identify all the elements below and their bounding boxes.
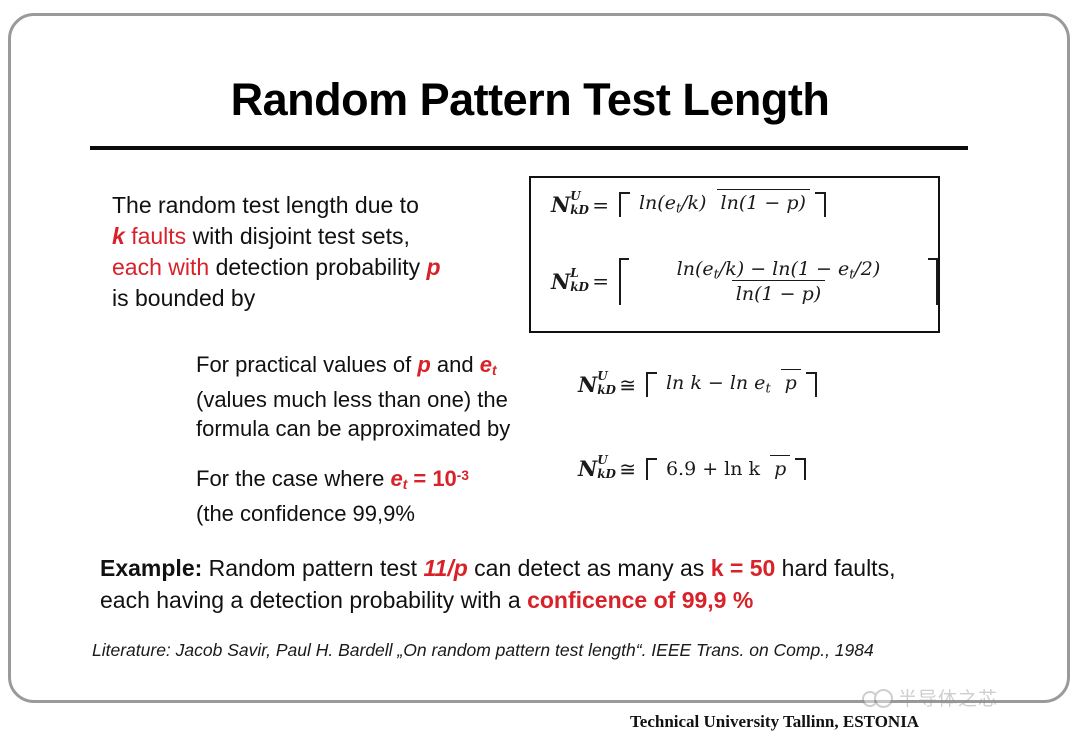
formula-approx-ceiling-brackets: ln k − ln et p <box>646 372 817 397</box>
formula-case-denominator: p <box>770 455 790 481</box>
each-with-phrase: each with <box>112 254 209 280</box>
formula-approx-fraction: ln k − ln et p <box>657 372 806 397</box>
case-line-1: For the case where et = 10-3 <box>196 461 556 499</box>
example-paragraph: Example: Random pattern test 11/p can de… <box>100 552 990 616</box>
formula-upper-numerator: ln(et/k) <box>635 191 711 216</box>
example-highlight-confidence: conficence of 99,9 % <box>527 587 753 613</box>
formula-upper-fraction: ln(et/k) ln(1 − p) <box>630 192 815 217</box>
intro-line-2: k faults with disjoint test sets, <box>112 221 512 252</box>
example-text-a: Random pattern test <box>209 555 417 581</box>
approximation-paragraph: For practical values of p and et (values… <box>196 350 556 443</box>
example-line-1: Example: Random pattern test 11/p can de… <box>100 552 990 584</box>
ceiling-bracket-left <box>619 192 630 217</box>
formula-approx-numerator: ln k − ln et <box>662 371 775 396</box>
formula-approx-subscript: kD <box>597 383 616 397</box>
formula-upper-denominator: ln(1 − p) <box>717 189 810 215</box>
p-symbol: p <box>427 254 441 280</box>
intro-line-3-rest: detection probability <box>216 254 421 280</box>
case-line-2: (the confidence 99,9% <box>196 499 556 528</box>
formula-lower-bound: NLkD = ln(et/k) − ln(1 − et/2) ln(1 − p) <box>551 258 938 305</box>
approximation-line-2: (values much less than one) the <box>196 385 556 414</box>
intro-line-2-rest: with disjoint test sets, <box>193 223 410 249</box>
formula-upper-superscript: U <box>570 189 580 203</box>
footer-institution: Technical University Tallinn, ESTONIA <box>630 712 919 732</box>
intro-line-4-text: is bounded by <box>112 285 255 311</box>
ceiling-bracket-left <box>619 258 629 305</box>
formula-case-ceiling-brackets: 6.9 + ln k p <box>646 458 806 480</box>
formula-approx-denominator: p <box>781 369 801 395</box>
formula-lower-lhs: NLkD <box>551 269 570 294</box>
formula-case-subscript: kD <box>597 467 616 481</box>
formula-lower-numerator: ln(et/k) − ln(1 − et/2) <box>673 257 885 282</box>
example-highlight-k-equals-50: k = 50 <box>711 555 776 581</box>
example-label: Example: <box>100 555 202 581</box>
p-symbol: p <box>417 352 430 377</box>
approximation-lead: For practical values of <box>196 352 411 377</box>
approximation-line-3: formula can be approximated by <box>196 414 556 443</box>
ceiling-bracket-right <box>795 458 806 480</box>
formula-approx-superscript: U <box>597 369 607 383</box>
ceiling-bracket-right <box>806 372 817 397</box>
page-title: Random Pattern Test Length <box>90 74 970 126</box>
et-symbol: et <box>480 352 497 377</box>
formula-case-fraction: 6.9 + ln k p <box>657 458 795 480</box>
watermark-dot-left <box>862 691 878 707</box>
ceiling-bracket-left <box>646 372 657 397</box>
formula-lower-superscript: L <box>570 266 578 280</box>
example-line-2: each having a detection probability with… <box>100 584 990 616</box>
formula-lower-denominator: ln(1 − p) <box>732 280 825 306</box>
formula-case-lhs: NUkD <box>578 456 597 481</box>
formula-lower-subscript: kD <box>570 280 589 294</box>
watermark-logo-icon <box>862 687 892 709</box>
formula-upper-subscript: kD <box>570 203 589 217</box>
formula-upper-ceiling-brackets: ln(et/k) ln(1 − p) <box>619 192 826 217</box>
formula-lower-fraction: ln(et/k) − ln(1 − et/2) ln(1 − p) <box>629 258 927 305</box>
approximation-line-1: For practical values of p and et <box>196 350 556 385</box>
bounds-formula-box: NUkD = ln(et/k) ln(1 − p) NLkD = ln(et/k… <box>529 176 940 333</box>
formula-upper-lhs: NUkD <box>551 192 570 217</box>
example-line-2-text: each having a detection probability with… <box>100 587 521 613</box>
watermark-text: 半导体之芯 <box>898 684 998 711</box>
et-value-expression: et = 10-3 <box>390 466 468 491</box>
faults-word: faults <box>131 223 186 249</box>
formula-case-numerator: 6.9 + ln k <box>662 457 764 482</box>
watermark: 半导体之芯 <box>862 684 998 711</box>
formula-case-result: NUkD ≅ 6.9 + ln k p <box>578 456 806 481</box>
case-lead: For the case where <box>196 466 384 491</box>
ceiling-bracket-left <box>646 458 657 480</box>
formula-approx-lhs: NUkD <box>578 372 597 397</box>
intro-paragraph: The random test length due to k faults w… <box>112 190 512 314</box>
case-paragraph: For the case where et = 10-3 (the confid… <box>196 461 556 528</box>
ceiling-bracket-right <box>928 258 938 305</box>
k-symbol: k <box>112 223 125 249</box>
title-divider-rule <box>90 146 968 150</box>
watermark-dot-right <box>874 689 893 708</box>
formula-upper-bound: NUkD = ln(et/k) ln(1 − p) <box>551 192 826 217</box>
example-text-b: can detect as many as <box>474 555 704 581</box>
intro-line-1-text: The random test length due to <box>112 192 419 218</box>
intro-line-4: is bounded by <box>112 283 512 314</box>
slide-canvas: Random Pattern Test Length The random te… <box>0 0 1080 748</box>
formula-case-superscript: U <box>597 453 607 467</box>
ceiling-bracket-right <box>815 192 826 217</box>
intro-line-1: The random test length due to <box>112 190 512 221</box>
example-highlight-11-over-p: 11/p <box>423 555 467 581</box>
example-text-c: hard faults, <box>782 555 896 581</box>
and-word: and <box>437 352 474 377</box>
formula-approximation: NUkD ≅ ln k − ln et p <box>578 372 817 397</box>
literature-reference: Literature: Jacob Savir, Paul H. Bardell… <box>92 640 992 661</box>
formula-lower-ceiling-brackets: ln(et/k) − ln(1 − et/2) ln(1 − p) <box>619 258 938 305</box>
intro-line-3: each with detection probability p <box>112 252 512 283</box>
